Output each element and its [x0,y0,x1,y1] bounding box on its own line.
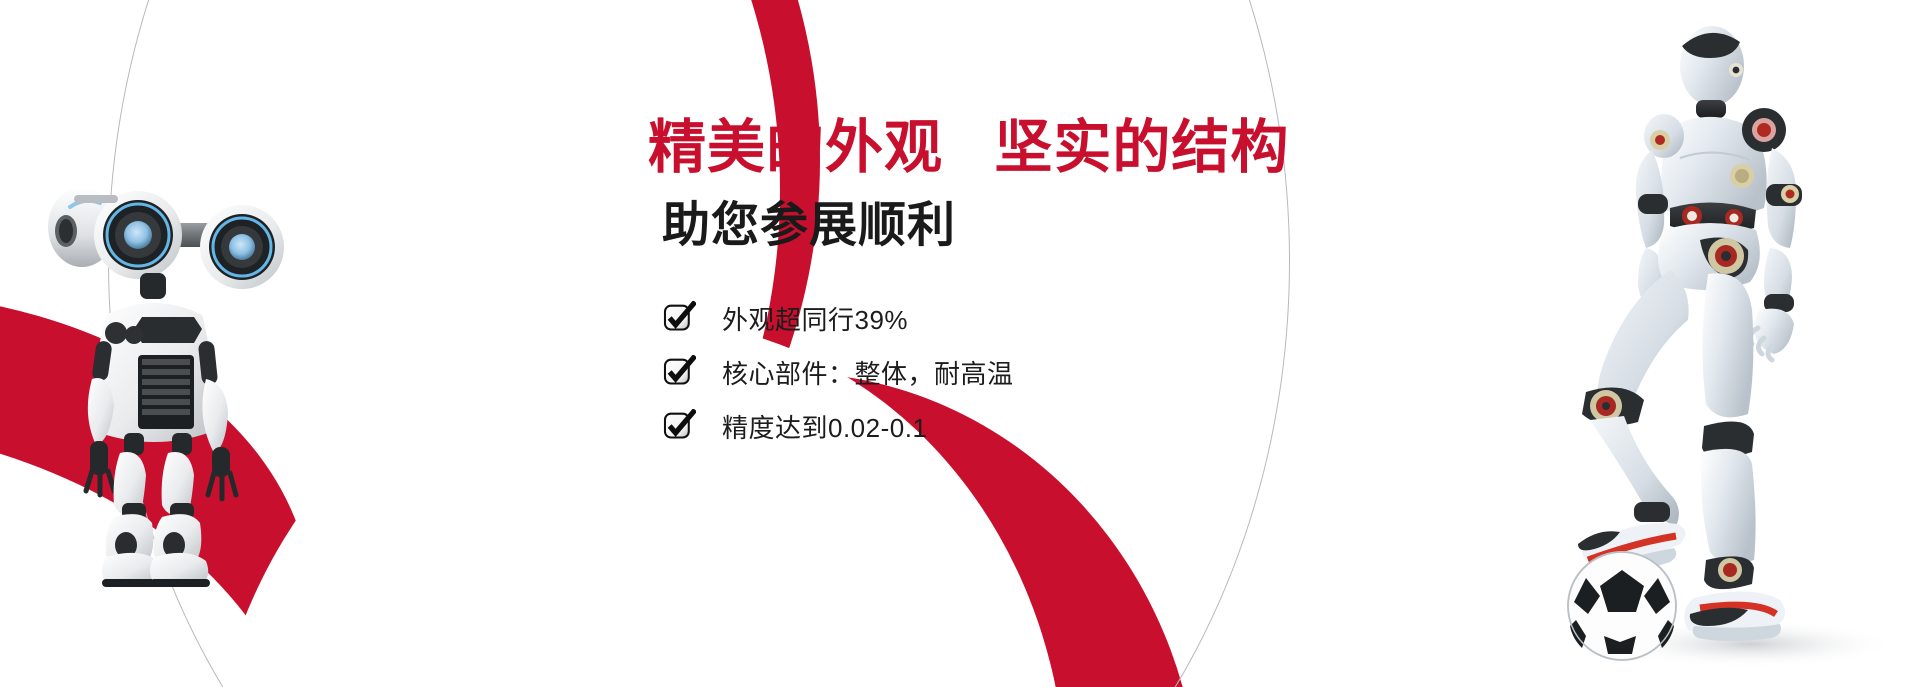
humanoid-torso-group [1644,108,1786,234]
robot-torso-group [96,303,212,442]
humanoid-raised-leg [1578,270,1689,578]
robot-legs [102,433,210,587]
list-item: 外观超同行39% [662,299,1408,337]
feature-label: 核心部件：整体，耐高温 [722,354,1014,391]
promo-banner: 精美的外观 坚实的结构 助您参展顺利 [0,0,1920,687]
feature-label: 外观超同行39% [722,300,908,337]
soccer-ball [1568,552,1676,660]
feature-label: 精度达到0.02-0.1 [722,408,927,445]
robot-neck [140,273,166,299]
page-title: 精美的外观 坚实的结构 [648,118,1408,179]
banner-text-content: 精美的外观 坚实的结构 助您参展顺利 [648,118,1408,461]
list-item: 核心部件：整体，耐高温 [662,353,1408,391]
page-subtitle: 助您参展顺利 [662,201,1408,251]
robot-right-arm [198,340,236,499]
robot-head-group [48,187,284,289]
checkbox-checked-icon [662,409,696,443]
checkbox-checked-icon [662,355,696,389]
feature-list: 外观超同行39% 核心部件：整体，耐高温 精度达 [662,299,1408,445]
checkbox-checked-icon [662,301,696,335]
right-robot-image [1560,8,1920,680]
humanoid-head-group [1680,26,1744,118]
left-robot-image [30,165,320,635]
list-item: 精度达到0.02-0.1 [662,407,1408,445]
